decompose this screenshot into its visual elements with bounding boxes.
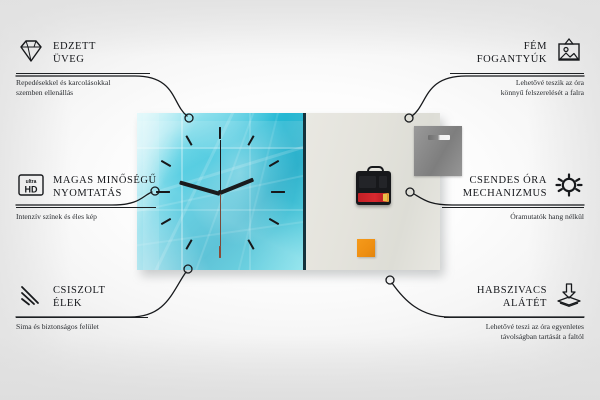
feature-high-quality-print[interactable]: ultra HD MAGAS MINŐSÉGŰ NYOMTATÁS Intenz…: [16, 172, 176, 222]
clock-back-panel: [306, 113, 440, 270]
feature-description: Repedésekkel és karcolásokkal szemben el…: [16, 78, 166, 97]
feature-divider: [16, 317, 148, 318]
feature-title: CSISZOLT ÉLEK: [53, 285, 105, 310]
feature-divider: [450, 73, 584, 74]
foam-pad: [357, 239, 375, 257]
clock-center-hub: [218, 190, 222, 194]
product-image: [137, 113, 440, 270]
feature-divider: [16, 73, 150, 74]
movement-seam-right: [379, 176, 387, 188]
feature-title: CSENDES ÓRA MECHANIZMUS: [463, 175, 547, 200]
feature-title: MAGAS MINŐSÉGŰ NYOMTATÁS: [53, 175, 157, 200]
hanger-loop: [367, 166, 384, 176]
ultra-hd-icon: ultra HD: [16, 172, 46, 203]
feature-tempered-glass[interactable]: EDZETT ÜVEG Repedésekkel és karcolásokka…: [16, 38, 166, 97]
feature-silent-mechanism[interactable]: CSENDES ÓRA MECHANIZMUS Óramutatók hang …: [424, 172, 584, 222]
svg-text:HD: HD: [25, 185, 38, 195]
feature-description: Lehetővé teszik az óra könnyű felszerelé…: [434, 78, 584, 97]
feature-polished-edges[interactable]: CSISZOLT ÉLEK Sima és biztonságos felüle…: [16, 282, 166, 332]
clock-second-hand-upper: [220, 140, 221, 192]
feature-description: Sima és biztonságos felület: [16, 322, 166, 332]
diagonal-lines-icon: [16, 282, 46, 313]
feature-description: Intenzív színek és éles kép: [16, 212, 176, 222]
diamond-icon: [16, 38, 46, 69]
battery: [358, 193, 389, 202]
feature-title: FÉM FOGANTYÚK: [477, 41, 547, 66]
clock-second-hand: [220, 192, 221, 246]
infographic-canvas: EDZETT ÜVEG Repedésekkel és karcolásokka…: [0, 0, 600, 400]
feature-divider: [444, 317, 584, 318]
metal-hanger-plate: [414, 126, 462, 176]
press-layers-icon: [554, 282, 584, 313]
movement-seam-left: [359, 176, 376, 188]
feature-title: EDZETT ÜVEG: [53, 41, 96, 66]
hanging-picture-icon: [554, 38, 584, 69]
clock-movement: [356, 171, 391, 205]
gear-icon: [554, 172, 584, 203]
feature-foam-pad[interactable]: HABSZIVACS ALÁTÉT Lehetővé teszi az óra …: [428, 282, 584, 341]
feature-divider: [16, 207, 156, 208]
feature-description: Lehetővé teszi az óra egyenletes távolsá…: [428, 322, 584, 341]
feature-divider: [442, 207, 584, 208]
feature-metal-hangers[interactable]: FÉM FOGANTYÚK Lehetővé teszik az óra kön…: [434, 38, 584, 97]
feature-description: Óramutatók hang nélkül: [424, 212, 584, 222]
feature-title: HABSZIVACS ALÁTÉT: [477, 285, 547, 310]
